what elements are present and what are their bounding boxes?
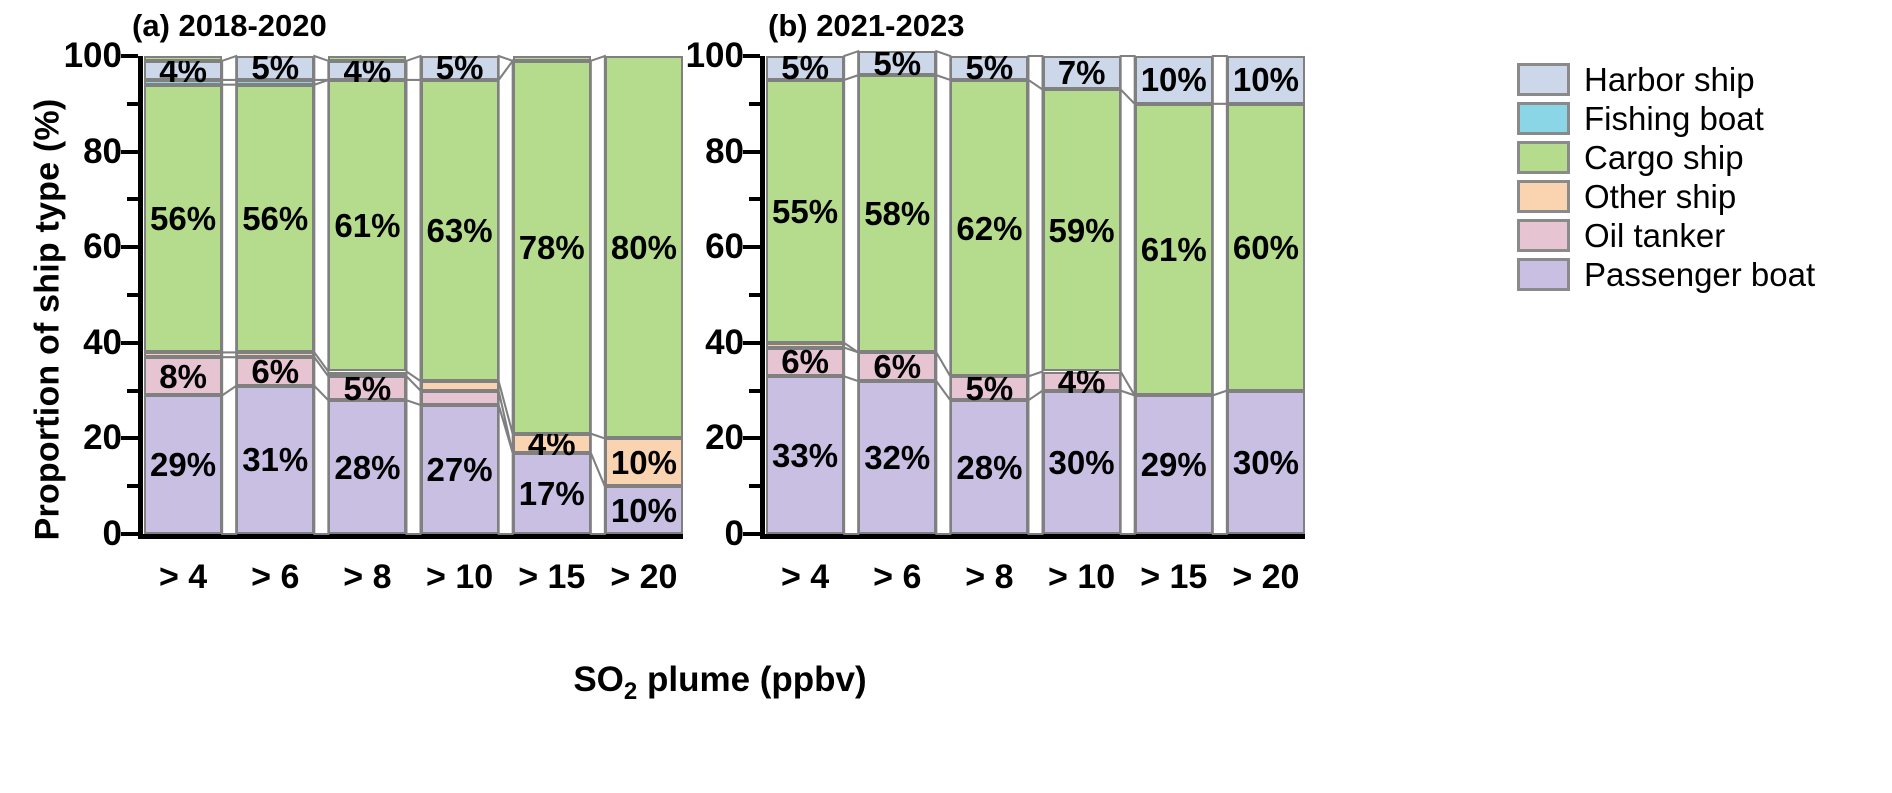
bar-segment[interactable]: 78%: [513, 61, 591, 434]
bar-segment-label: 55%: [772, 195, 838, 228]
x-tick-label: > 4: [781, 558, 829, 597]
bar-segment[interactable]: 4%: [328, 61, 406, 80]
bar-segment[interactable]: 17%: [513, 453, 591, 534]
y-tick-major: [121, 341, 138, 345]
plot-area: (a) 2018-202002040608010029%8%56%4%> 431…: [138, 56, 683, 534]
y-tick-major: [743, 532, 760, 536]
bar-segment[interactable]: [328, 56, 406, 61]
legend-label: Harbor ship: [1584, 61, 1755, 99]
y-tick-minor: [127, 484, 138, 488]
bar-segment-label: 56%: [150, 202, 216, 235]
bar-segment-label: 78%: [519, 231, 585, 264]
bar-segment-label: 28%: [956, 451, 1022, 484]
bar-segment[interactable]: 6%: [766, 348, 844, 377]
panel-a: (a) 2018-202002040608010029%8%56%4%> 431…: [138, 56, 683, 534]
legend-item[interactable]: Harbor ship: [1517, 60, 1815, 99]
bar-segment[interactable]: 10%: [1227, 56, 1305, 104]
y-tick-label: 40: [705, 323, 744, 363]
y-tick-label: 80: [705, 132, 744, 172]
bar-segment-label: 58%: [864, 197, 930, 230]
bar-segment-label: 80%: [611, 231, 677, 264]
bar-segment[interactable]: 28%: [950, 400, 1028, 534]
bar-segment-label: 5%: [436, 51, 484, 84]
bar-stack[interactable]: 17%4%78%: [513, 56, 591, 534]
y-tick-major: [121, 532, 138, 536]
bar-segment[interactable]: 29%: [1135, 395, 1213, 534]
bar-segment[interactable]: 10%: [605, 438, 683, 486]
bar-segment[interactable]: 56%: [144, 85, 222, 353]
bar-segment[interactable]: 10%: [605, 486, 683, 534]
bar-segment-label: 56%: [242, 202, 308, 235]
x-tick-label: > 20: [610, 558, 677, 597]
y-tick-minor: [127, 293, 138, 297]
y-tick-label: 60: [83, 227, 122, 267]
legend-swatch: [1517, 219, 1570, 252]
x-tick-label: > 6: [251, 558, 299, 597]
bar-stack[interactable]: 30%60%10%: [1227, 56, 1305, 534]
panel-title: (b) 2021-2023: [768, 8, 964, 44]
y-axis-line: [138, 56, 143, 534]
bar-segment[interactable]: 31%: [236, 386, 314, 534]
bar-stack[interactable]: 29%8%56%4%: [144, 56, 222, 534]
bar-segment[interactable]: 28%: [328, 400, 406, 534]
bar-segment-label: 61%: [334, 209, 400, 242]
legend-item[interactable]: Passenger boat: [1517, 255, 1815, 294]
x-tick-label: > 6: [873, 558, 921, 597]
plot-area: (b) 2021-202302040608010033%6%55%5%> 432…: [760, 56, 1305, 534]
bar-segment-label: 5%: [251, 51, 299, 84]
x-axis-line: [138, 534, 683, 539]
legend-item[interactable]: Fishing boat: [1517, 99, 1815, 138]
bar-segment[interactable]: 62%: [950, 80, 1028, 376]
legend-swatch: [1517, 180, 1570, 213]
y-axis-label: Proportion of ship type (%): [29, 60, 68, 580]
bar-segment-label: 10%: [1233, 63, 1299, 96]
bar-segment[interactable]: [328, 372, 406, 377]
bar-segment[interactable]: 5%: [766, 56, 844, 80]
bar-segment-label: 29%: [1141, 448, 1207, 481]
y-tick-major: [743, 245, 760, 249]
bar-segment-label: 6%: [781, 345, 829, 378]
bar-stack[interactable]: 29%61%10%: [1135, 56, 1213, 534]
bar-segment-label: 5%: [781, 51, 829, 84]
bar-segment[interactable]: 7%: [1043, 56, 1121, 89]
legend: Harbor shipFishing boatCargo shipOther s…: [1517, 60, 1815, 294]
y-axis-line: [760, 56, 765, 534]
bar-stack[interactable]: 27%63%5%: [421, 56, 499, 534]
x-axis-label-so: SO: [573, 660, 624, 699]
x-tick-label: > 8: [965, 558, 1013, 597]
y-tick-label: 60: [705, 227, 744, 267]
bar-segment[interactable]: [236, 352, 314, 357]
bar-segment-label: 6%: [873, 350, 921, 383]
y-tick-label: 0: [103, 514, 122, 554]
y-tick-label: 0: [725, 514, 744, 554]
legend-label: Passenger boat: [1584, 256, 1815, 294]
bar-segment[interactable]: 61%: [328, 80, 406, 372]
y-tick-label: 100: [686, 36, 744, 76]
bar-segment[interactable]: 61%: [1135, 104, 1213, 396]
bar-segment-label: 27%: [427, 453, 493, 486]
bar-segment-label: 6%: [251, 355, 299, 388]
x-tick-label: > 8: [343, 558, 391, 597]
bar-segment-label: 5%: [966, 372, 1014, 405]
bar-segment-label: 10%: [1141, 63, 1207, 96]
x-tick-label: > 4: [159, 558, 207, 597]
y-tick-major: [121, 436, 138, 440]
y-tick-minor: [127, 102, 138, 106]
legend-item[interactable]: Cargo ship: [1517, 138, 1815, 177]
bar-segment-label: 17%: [519, 477, 585, 510]
bar-segment-label: 28%: [334, 451, 400, 484]
y-tick-major: [743, 341, 760, 345]
x-axis-label-sub: 2: [624, 678, 637, 705]
bar-segment-label: 29%: [150, 448, 216, 481]
bar-segment-label: 7%: [1058, 56, 1106, 89]
bar-segment[interactable]: 32%: [858, 381, 936, 534]
y-tick-minor: [127, 389, 138, 393]
y-tick-major: [121, 150, 138, 154]
x-tick-label: > 15: [518, 558, 585, 597]
bar-segment[interactable]: 4%: [513, 434, 591, 453]
bar-segment-label: 31%: [242, 443, 308, 476]
legend-swatch: [1517, 63, 1570, 96]
bar-segment[interactable]: 6%: [858, 352, 936, 381]
bar-segment[interactable]: 30%: [1227, 391, 1305, 534]
bar-stack[interactable]: 28%5%61%4%: [328, 56, 406, 534]
legend-item[interactable]: Other ship: [1517, 177, 1815, 216]
bar-segment[interactable]: 27%: [421, 405, 499, 534]
y-tick-minor: [749, 389, 760, 393]
bar-segment-label: 5%: [966, 51, 1014, 84]
y-tick-major: [743, 436, 760, 440]
bar-stack[interactable]: 28%5%62%5%: [950, 56, 1028, 534]
bar-segment-label: 62%: [956, 212, 1022, 245]
panel-b: (b) 2021-202302040608010033%6%55%5%> 432…: [760, 56, 1305, 534]
legend-label: Other ship: [1584, 178, 1736, 216]
y-tick-minor: [749, 102, 760, 106]
bar-segment-label: 30%: [1233, 446, 1299, 479]
y-tick-major: [743, 150, 760, 154]
y-tick-label: 100: [64, 36, 122, 76]
legend-item[interactable]: Oil tanker: [1517, 216, 1815, 255]
bar-segment[interactable]: 63%: [421, 80, 499, 381]
bar-segment[interactable]: 8%: [144, 357, 222, 395]
bar-segment[interactable]: 59%: [1043, 89, 1121, 371]
figure-root: Proportion of ship type (%) (a) 2018-202…: [0, 0, 1892, 793]
legend-label: Fishing boat: [1584, 100, 1764, 138]
bar-segment[interactable]: 4%: [144, 61, 222, 80]
bar-segment[interactable]: 5%: [236, 56, 314, 80]
bar-segment[interactable]: 10%: [1135, 56, 1213, 104]
bar-segment[interactable]: 5%: [858, 51, 936, 75]
bar-segment-label: 59%: [1049, 214, 1115, 247]
y-tick-minor: [127, 197, 138, 201]
bar-stack[interactable]: 10%10%80%: [605, 56, 683, 534]
x-tick-label: > 15: [1140, 558, 1207, 597]
bar-segment[interactable]: 29%: [144, 395, 222, 534]
legend-swatch: [1517, 258, 1570, 291]
bar-segment-label: 30%: [1049, 446, 1115, 479]
y-tick-major: [121, 54, 138, 58]
bar-segment[interactable]: 4%: [1043, 372, 1121, 391]
bar-stack[interactable]: 32%6%58%5%: [858, 56, 936, 534]
bar-stack[interactable]: 31%6%56%5%: [236, 56, 314, 534]
bar-segment-label: 10%: [611, 494, 677, 527]
bar-segment-label: 5%: [873, 47, 921, 80]
bar-segment[interactable]: [421, 391, 499, 405]
y-tick-label: 40: [83, 323, 122, 363]
y-tick-label: 80: [83, 132, 122, 172]
legend-label: Cargo ship: [1584, 139, 1744, 177]
bar-segment-label: 10%: [611, 446, 677, 479]
bar-segment[interactable]: 5%: [950, 56, 1028, 80]
y-tick-minor: [749, 197, 760, 201]
bar-segment[interactable]: 5%: [328, 376, 406, 400]
y-tick-minor: [749, 293, 760, 297]
bar-segment[interactable]: 33%: [766, 376, 844, 534]
bar-segment[interactable]: 6%: [236, 357, 314, 386]
legend-swatch: [1517, 141, 1570, 174]
panel-title: (a) 2018-2020: [132, 8, 327, 44]
bar-segment[interactable]: 5%: [950, 376, 1028, 400]
bar-segment[interactable]: [421, 381, 499, 391]
x-axis-line: [760, 534, 1305, 539]
bar-segment-label: 33%: [772, 439, 838, 472]
bar-segment-label: 32%: [864, 441, 930, 474]
legend-swatch: [1517, 102, 1570, 135]
x-tick-label: > 10: [1048, 558, 1115, 597]
bar-segment[interactable]: [144, 352, 222, 357]
y-tick-label: 20: [83, 418, 122, 458]
y-tick-major: [743, 54, 760, 58]
bar-segment[interactable]: [766, 343, 844, 348]
bar-segment[interactable]: 60%: [1227, 104, 1305, 391]
x-tick-label: > 10: [426, 558, 493, 597]
legend-label: Oil tanker: [1584, 217, 1725, 255]
bar-segment[interactable]: 55%: [766, 80, 844, 343]
bar-segment[interactable]: 58%: [858, 75, 936, 352]
bar-segment[interactable]: 30%: [1043, 391, 1121, 534]
bar-segment-label: 63%: [427, 214, 493, 247]
y-tick-label: 20: [705, 418, 744, 458]
x-axis-label-rest: plume (ppbv): [637, 660, 866, 699]
bar-stack[interactable]: 33%6%55%5%: [766, 56, 844, 534]
bar-segment[interactable]: 5%: [421, 56, 499, 80]
y-tick-minor: [749, 484, 760, 488]
x-tick-label: > 20: [1232, 558, 1299, 597]
x-axis-label: SO2 plume (ppbv): [0, 660, 1440, 706]
y-tick-major: [121, 245, 138, 249]
bar-segment-label: 8%: [159, 360, 207, 393]
bar-segment[interactable]: [144, 56, 222, 61]
bar-segment-label: 5%: [344, 372, 392, 405]
bar-segment[interactable]: [513, 56, 591, 61]
bar-segment[interactable]: 56%: [236, 85, 314, 353]
bar-segment-label: 61%: [1141, 233, 1207, 266]
bar-segment-label: 60%: [1233, 231, 1299, 264]
bar-stack[interactable]: 30%4%59%7%: [1043, 56, 1121, 534]
bar-segment[interactable]: 80%: [605, 56, 683, 438]
